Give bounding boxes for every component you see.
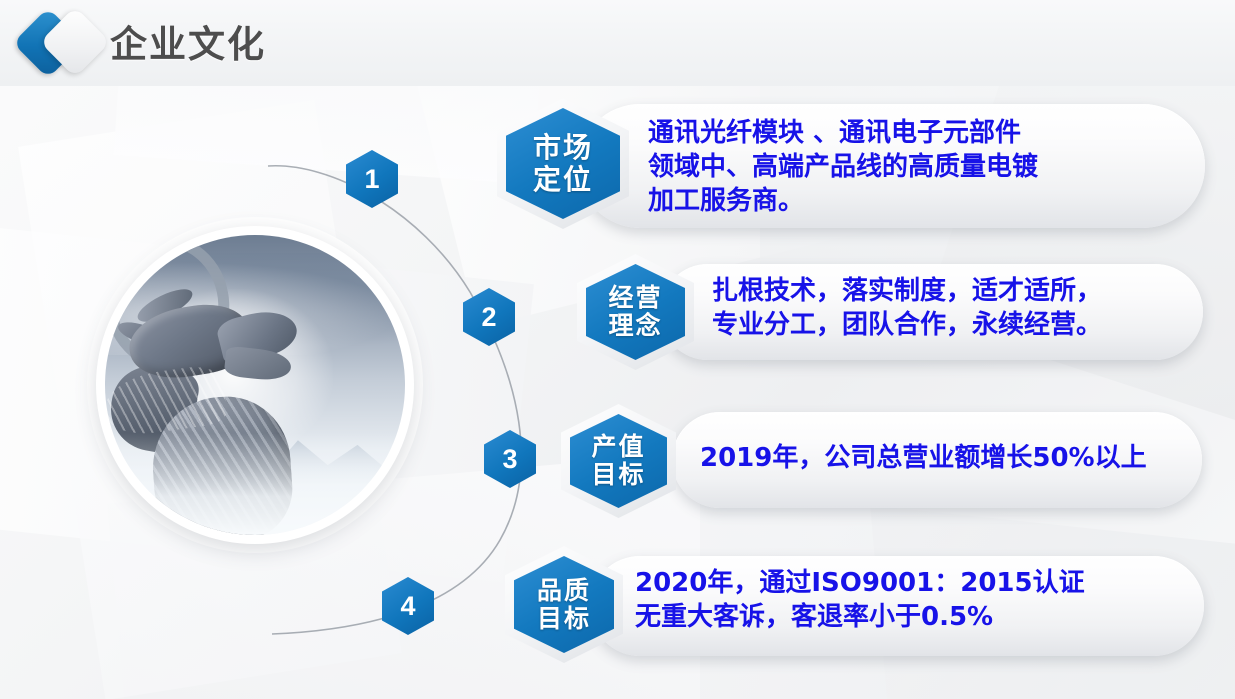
step-number-4[interactable]: 4	[382, 577, 434, 635]
content-text-4: 2020年，通过ISO9001：2015认证 无重大客诉，客退率小于0.5%	[635, 567, 1195, 635]
chevron-diamond-logo-icon	[17, 8, 117, 80]
badge-1[interactable]: 市场 定位	[497, 98, 629, 229]
step-number-2[interactable]: 2	[463, 288, 515, 346]
slide-header: 企业文化	[0, 0, 1235, 86]
badge-line-1: 产值	[591, 433, 645, 461]
badge-line-2: 理念	[608, 312, 662, 340]
page-title: 企业文化	[110, 14, 266, 68]
content-text-2: 扎根技术，落实制度，适才适所， 专业分工，团队合作，永续经营。	[712, 275, 1212, 343]
badge-4[interactable]: 品质 目标	[505, 546, 623, 663]
photo-circle	[105, 235, 405, 535]
dragon-statue-photo	[96, 226, 414, 544]
badge-3[interactable]: 产值 目标	[561, 404, 676, 518]
badge-line-1: 经营	[608, 284, 662, 312]
content-text-1: 通讯光纤模块 、通讯电子元部件 领域中、高端产品线的高质量电镀 加工服务商。	[648, 117, 1188, 218]
photo-mist	[105, 433, 405, 535]
slide-canvas: 企业文化 1 2 3 4	[0, 0, 1235, 699]
badge-line-2: 目标	[591, 461, 645, 489]
badge-line-1: 品质	[537, 577, 591, 605]
badge-line-2: 定位	[533, 164, 593, 195]
content-text-3: 2019年，公司总营业额增长50%以上	[700, 442, 1210, 476]
dragon-jaw	[224, 346, 293, 383]
badge-line-1: 市场	[533, 132, 593, 163]
badge-line-2: 目标	[537, 605, 591, 633]
step-number-3[interactable]: 3	[484, 430, 536, 488]
step-number-1[interactable]: 1	[346, 150, 398, 208]
badge-2[interactable]: 经营 理念	[577, 254, 694, 370]
